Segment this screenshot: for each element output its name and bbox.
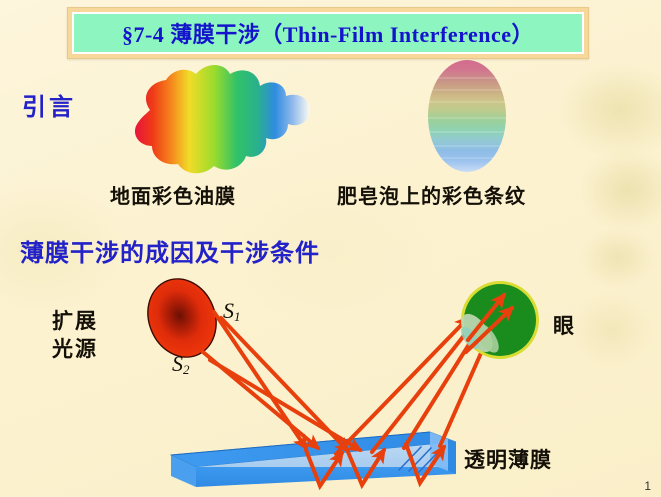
light-source-label-line1: 扩展 <box>52 305 98 335</box>
soap-bubble-caption: 肥皂泡上的彩色条纹 <box>337 180 526 209</box>
incident-rays <box>203 312 360 451</box>
incident-ray-4 <box>210 360 360 450</box>
s1-subscript: 1 <box>234 309 241 324</box>
intro-heading: 引言 <box>22 87 76 122</box>
s1-base: S <box>223 298 234 323</box>
s2-label: S2 <box>172 351 190 378</box>
light-source-label-line2: 光源 <box>52 333 98 363</box>
s1-label: S1 <box>223 298 241 325</box>
oil-film-caption: 地面彩色油膜 <box>110 180 236 209</box>
cause-heading: 薄膜干涉的成因及干涉条件 <box>20 233 320 268</box>
s2-base: S <box>172 351 183 376</box>
s2-subscript: 2 <box>183 362 190 377</box>
film-right-edge <box>448 439 456 474</box>
page-number: 1 <box>644 479 651 493</box>
eye-label: 眼 <box>553 310 574 340</box>
thin-film-label: 透明薄膜 <box>464 444 552 474</box>
slide-canvas: §7-4 薄膜干涉（Thin-Film Interference） <box>0 0 661 497</box>
reflected-ray-1 <box>336 318 468 454</box>
